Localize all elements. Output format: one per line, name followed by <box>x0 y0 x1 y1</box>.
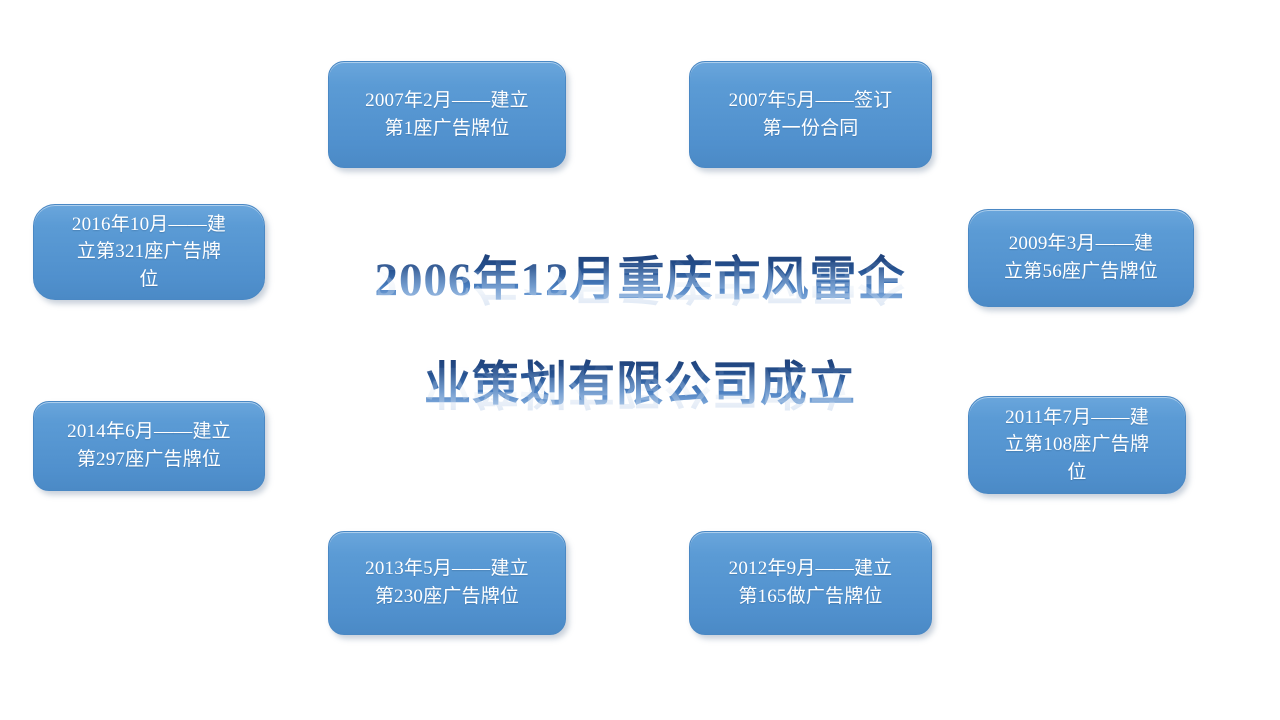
milestone-node-2007-05[interactable]: 2007年5月——签订 第一份合同 <box>689 61 932 168</box>
title-line-2-reflection: 业策划有限公司成立 <box>330 357 950 413</box>
slide-canvas: 2006年12月重庆市风雷企 2006年12月重庆市风雷企 业策划有限公司成立 … <box>0 0 1280 720</box>
title-line-1-reflection: 2006年12月重庆市风雷企 <box>330 252 950 308</box>
milestone-node-2011-07[interactable]: 2011年7月——建 立第108座广告牌 位 <box>968 396 1186 494</box>
title-line-2: 业策划有限公司成立 业策划有限公司成立 <box>330 357 950 461</box>
milestone-node-2012-09[interactable]: 2012年9月——建立 第165做广告牌位 <box>689 531 932 635</box>
title-line-2-text: 业策划有限公司成立 <box>330 357 950 413</box>
milestone-label: 2016年10月——建 立第321座广告牌 位 <box>72 211 226 294</box>
milestone-node-2013-05[interactable]: 2013年5月——建立 第230座广告牌位 <box>328 531 566 635</box>
milestone-label: 2012年9月——建立 第165做广告牌位 <box>729 555 893 610</box>
milestone-node-2016-10[interactable]: 2016年10月——建 立第321座广告牌 位 <box>33 204 265 300</box>
milestone-node-2007-02[interactable]: 2007年2月——建立 第1座广告牌位 <box>328 61 566 168</box>
milestone-node-2014-06[interactable]: 2014年6月——建立 第297座广告牌位 <box>33 401 265 491</box>
milestone-label: 2011年7月——建 立第108座广告牌 位 <box>1005 404 1149 487</box>
milestone-label: 2007年5月——签订 第一份合同 <box>729 87 893 142</box>
milestone-label: 2013年5月——建立 第230座广告牌位 <box>365 555 529 610</box>
milestone-label: 2014年6月——建立 第297座广告牌位 <box>67 418 231 473</box>
page-title: 2006年12月重庆市风雷企 2006年12月重庆市风雷企 业策划有限公司成立 … <box>330 252 950 461</box>
title-line-1: 2006年12月重庆市风雷企 2006年12月重庆市风雷企 <box>330 252 950 356</box>
milestone-node-2009-03[interactable]: 2009年3月——建 立第56座广告牌位 <box>968 209 1194 307</box>
milestone-label: 2007年2月——建立 第1座广告牌位 <box>365 87 529 142</box>
title-line-1-text: 2006年12月重庆市风雷企 <box>330 252 950 308</box>
milestone-label: 2009年3月——建 立第56座广告牌位 <box>1004 230 1158 285</box>
